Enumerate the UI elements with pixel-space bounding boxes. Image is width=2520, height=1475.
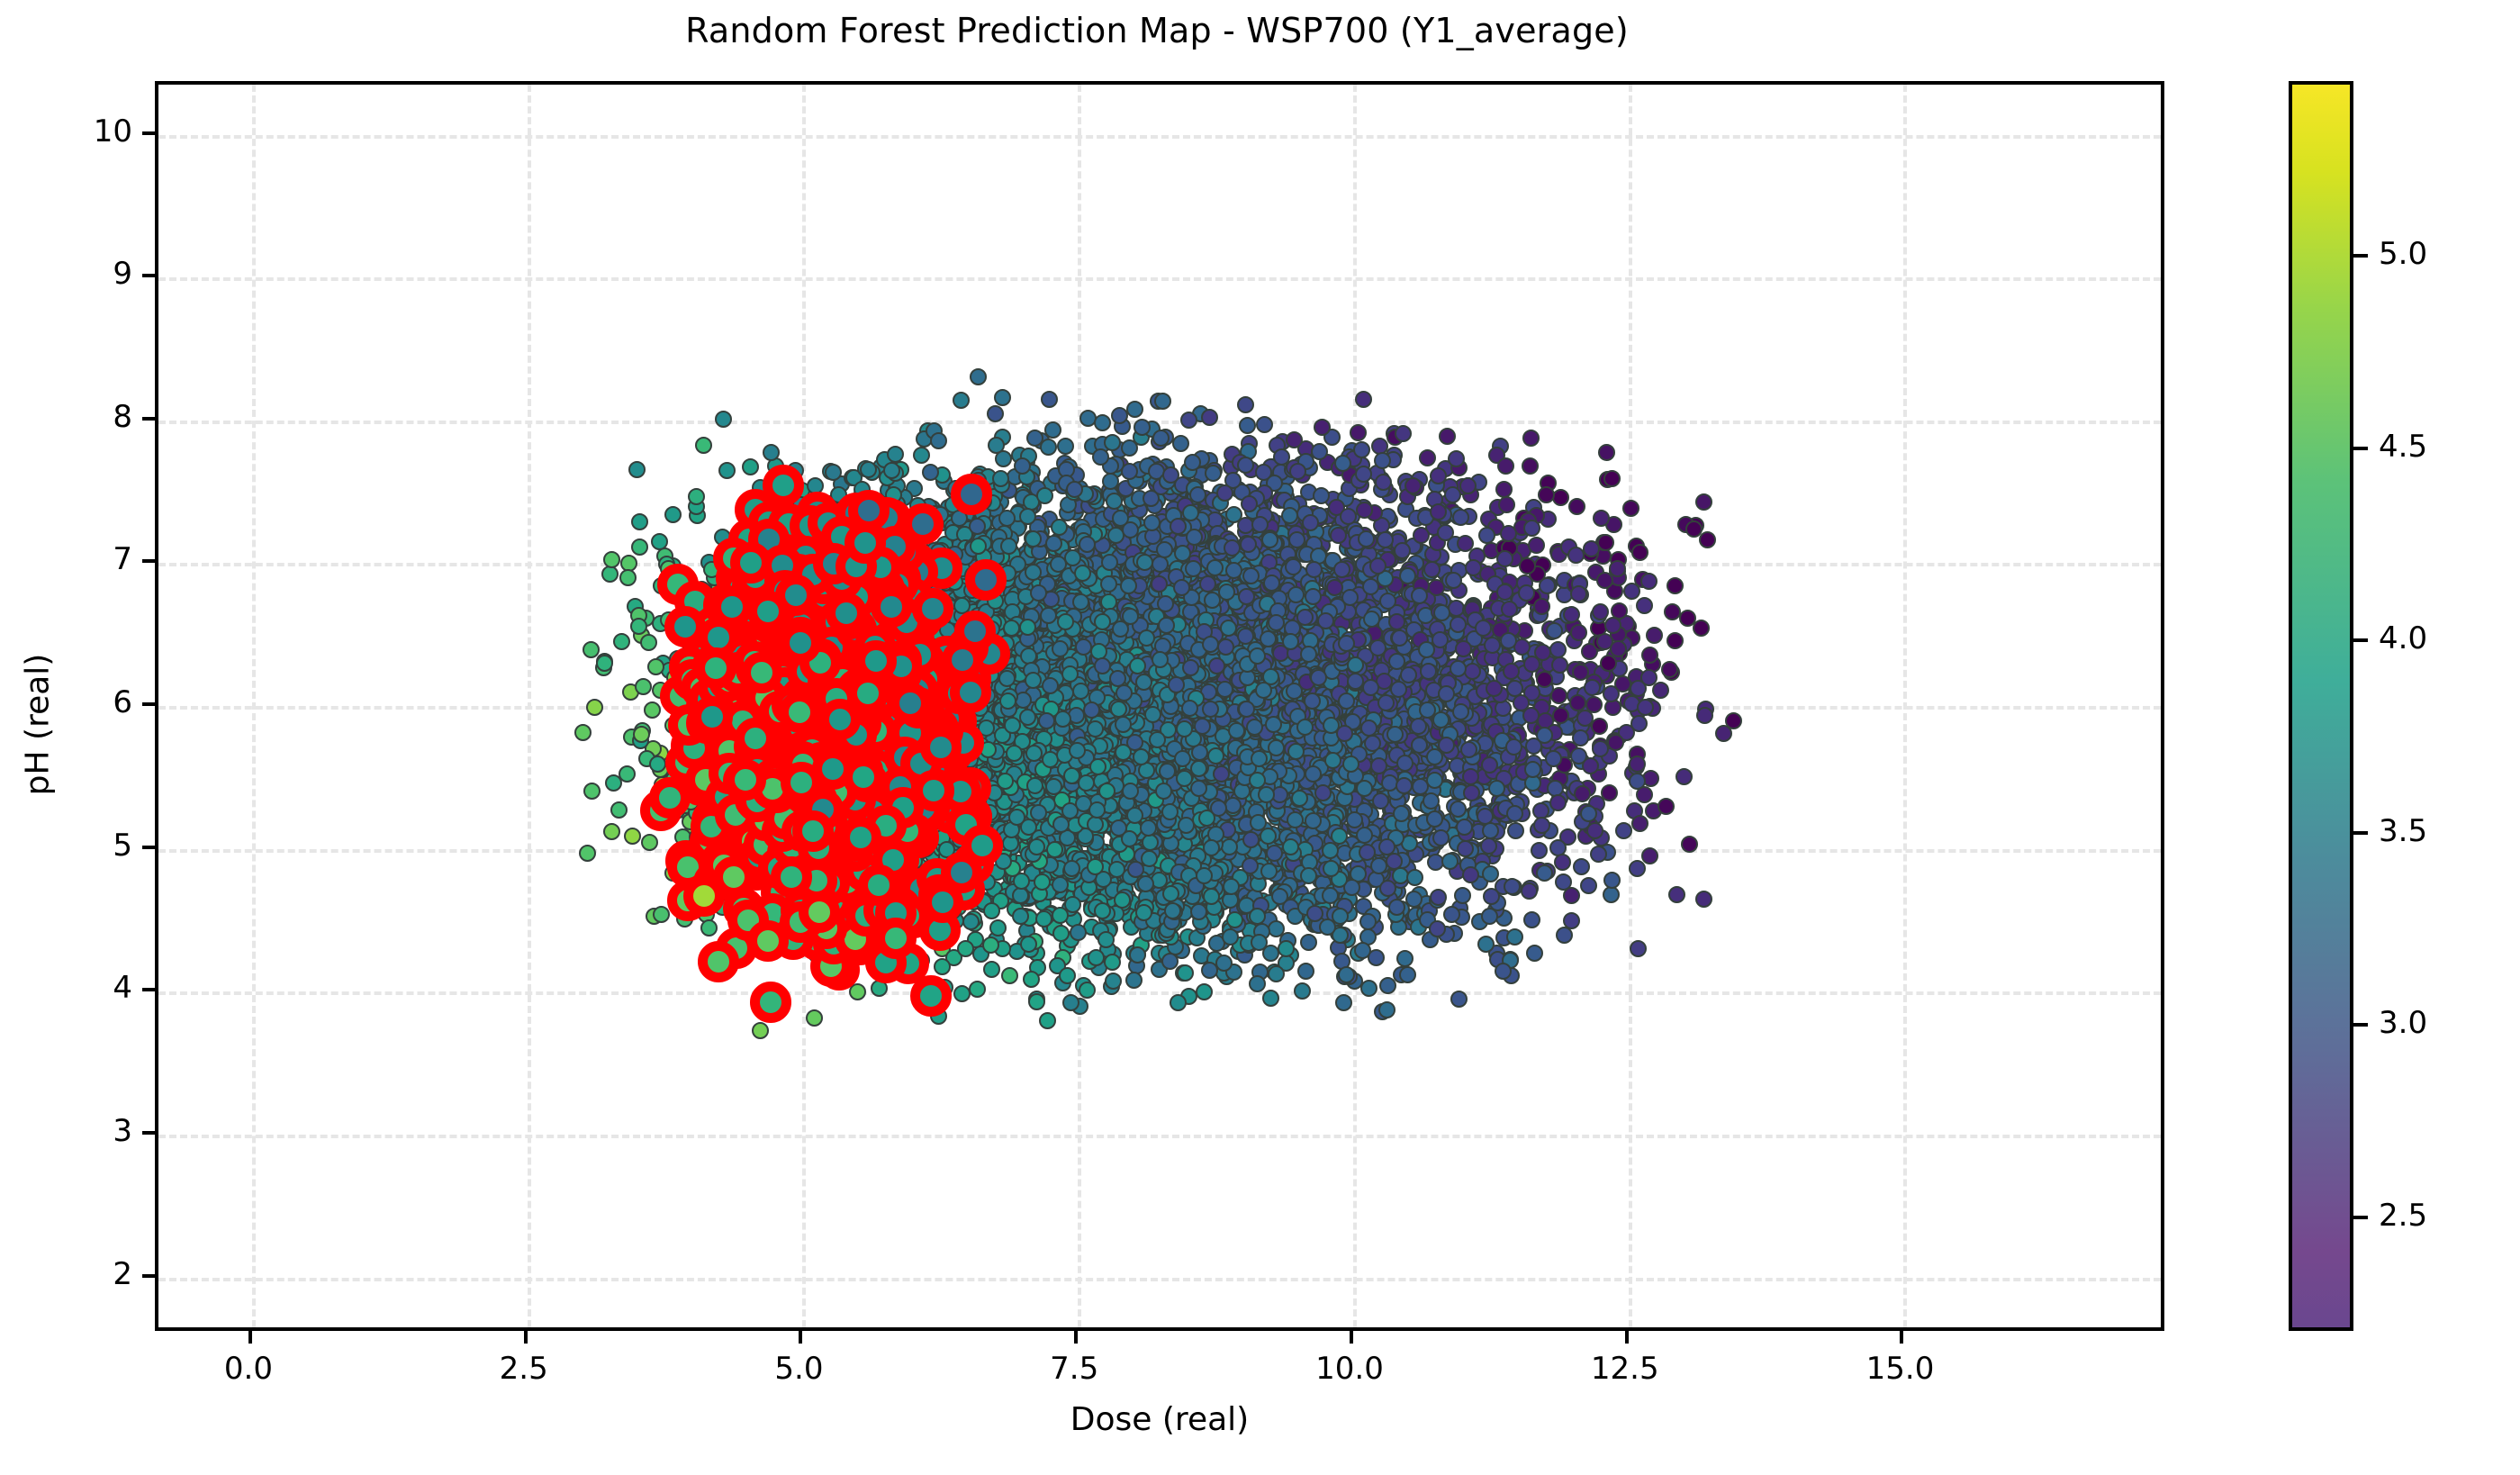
scatter-point bbox=[1552, 489, 1569, 506]
scatter-point bbox=[1526, 945, 1543, 962]
scatter-point bbox=[664, 506, 682, 523]
scatter-point bbox=[1335, 994, 1352, 1011]
scatter-point bbox=[1314, 419, 1331, 436]
scatter-point bbox=[579, 845, 596, 862]
scatter-point bbox=[1396, 950, 1414, 967]
scatter-point bbox=[624, 828, 641, 845]
scatter-point bbox=[1262, 990, 1279, 1007]
scatter-point bbox=[1591, 718, 1608, 735]
scatter-point bbox=[1668, 886, 1685, 903]
scatter-point bbox=[1631, 544, 1648, 561]
scatter-point bbox=[1522, 430, 1540, 447]
scatter-point bbox=[1603, 872, 1621, 889]
scatter-point bbox=[1556, 927, 1573, 944]
scatter-point bbox=[586, 699, 603, 716]
chart-title: Random Forest Prediction Map - WSP700 (Y… bbox=[0, 11, 2314, 50]
scatter-point bbox=[619, 569, 637, 586]
scatter-point bbox=[1441, 853, 1459, 870]
scatter-point bbox=[1239, 417, 1256, 434]
scatter-point bbox=[742, 458, 759, 475]
scatter-point bbox=[1439, 428, 1456, 445]
scatter-point bbox=[1041, 391, 1058, 408]
scatter-point bbox=[603, 823, 620, 840]
scatter-point bbox=[1497, 457, 1514, 475]
scatter-point bbox=[970, 368, 987, 385]
scatter-point bbox=[994, 389, 1011, 406]
scatter-points-layer bbox=[158, 85, 2161, 1327]
scatter-point bbox=[1419, 449, 1436, 466]
scatter-point bbox=[644, 701, 661, 719]
scatter-point bbox=[1696, 707, 1713, 724]
scatter-point bbox=[1196, 983, 1213, 1000]
scatter-point bbox=[1172, 435, 1189, 452]
scatter-point bbox=[1531, 842, 1548, 859]
scatter-point bbox=[1523, 911, 1540, 928]
scatter-point bbox=[1297, 963, 1314, 980]
scatter-point bbox=[1630, 940, 1647, 957]
scatter-point bbox=[1044, 421, 1061, 439]
scatter-point bbox=[1631, 815, 1648, 832]
scatter-point bbox=[1657, 798, 1675, 815]
scatter-point bbox=[1062, 994, 1079, 1011]
scatter-point bbox=[1601, 784, 1618, 801]
scatter-point bbox=[1563, 912, 1580, 929]
scatter-point bbox=[1286, 431, 1303, 448]
scatter-point bbox=[1623, 583, 1640, 600]
scatter-point bbox=[695, 437, 712, 454]
scatter-point bbox=[1715, 725, 1732, 742]
scatter-point bbox=[610, 801, 628, 819]
scatter-point bbox=[628, 461, 646, 478]
scatter-point bbox=[953, 985, 971, 1002]
scatter-point bbox=[1592, 603, 1609, 620]
scatter-point bbox=[1522, 457, 1539, 475]
scatter-point bbox=[953, 392, 970, 409]
scatter-point bbox=[1125, 972, 1143, 989]
scatter-point bbox=[1681, 836, 1698, 853]
scatter-point bbox=[583, 783, 601, 800]
scatter-point bbox=[1129, 946, 1146, 964]
scatter-point bbox=[1622, 500, 1639, 517]
scatter-point bbox=[1079, 982, 1096, 999]
scatter-point bbox=[1568, 498, 1585, 515]
scatter-point bbox=[969, 981, 986, 998]
scatter-point bbox=[605, 774, 622, 792]
scatter-point bbox=[1521, 882, 1538, 900]
plot-area bbox=[155, 81, 2164, 1331]
figure-canvas: Random Forest Prediction Map - WSP700 (Y… bbox=[0, 0, 2520, 1475]
scatter-point bbox=[1675, 768, 1693, 785]
scatter-point bbox=[718, 462, 736, 479]
scatter-point bbox=[1355, 391, 1372, 408]
scatter-point bbox=[601, 566, 619, 583]
scatter-point bbox=[806, 1009, 823, 1027]
scatter-point bbox=[1378, 1001, 1395, 1018]
scatter-point bbox=[1454, 887, 1471, 904]
